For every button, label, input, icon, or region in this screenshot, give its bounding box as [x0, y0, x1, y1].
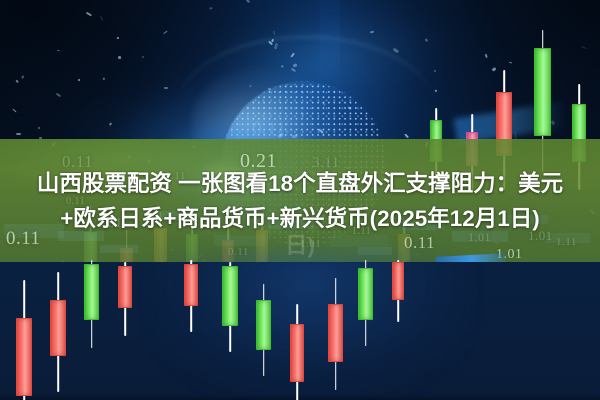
banner-image: 0.111.11 0.110.211.113.110.111.010.111.0… [0, 0, 600, 400]
candle-body [50, 300, 66, 356]
title-line-1: 山西股票配资 一张图看18个直盘外汇支撑阻力：美元 [37, 168, 563, 199]
candlestick-red [290, 304, 304, 400]
candle-body [290, 324, 304, 382]
candlestick-red [16, 280, 32, 400]
candle-body [16, 318, 32, 396]
candlestick-red [328, 278, 343, 390]
candlestick-red [392, 260, 404, 322]
candlestick-red [50, 272, 66, 392]
candlestick-green [84, 260, 99, 348]
candle-body [328, 304, 343, 362]
candle-body [392, 262, 404, 300]
candlestick-green [256, 284, 271, 376]
candle-body [358, 268, 373, 320]
candlestick-red [184, 260, 198, 332]
title-block: 山西股票配资 一张图看18个直盘外汇支撑阻力：美元 +欧系日系+商品货币+新兴货… [0, 139, 600, 263]
candlestick-green [358, 260, 373, 346]
candle-body [222, 266, 238, 326]
candlestick-red [118, 262, 132, 336]
candle-body [84, 264, 99, 320]
candle-body [118, 266, 132, 308]
candle-body [534, 48, 551, 136]
floating-number: 0.11 [252, 118, 286, 141]
candle-body [256, 300, 271, 350]
title-line-2: +欧系日系+商品货币+新兴货币(2025年12月1日) [60, 203, 540, 234]
candle-body [184, 264, 198, 306]
lower-area-glow [150, 252, 470, 400]
candlestick-green [222, 262, 238, 352]
